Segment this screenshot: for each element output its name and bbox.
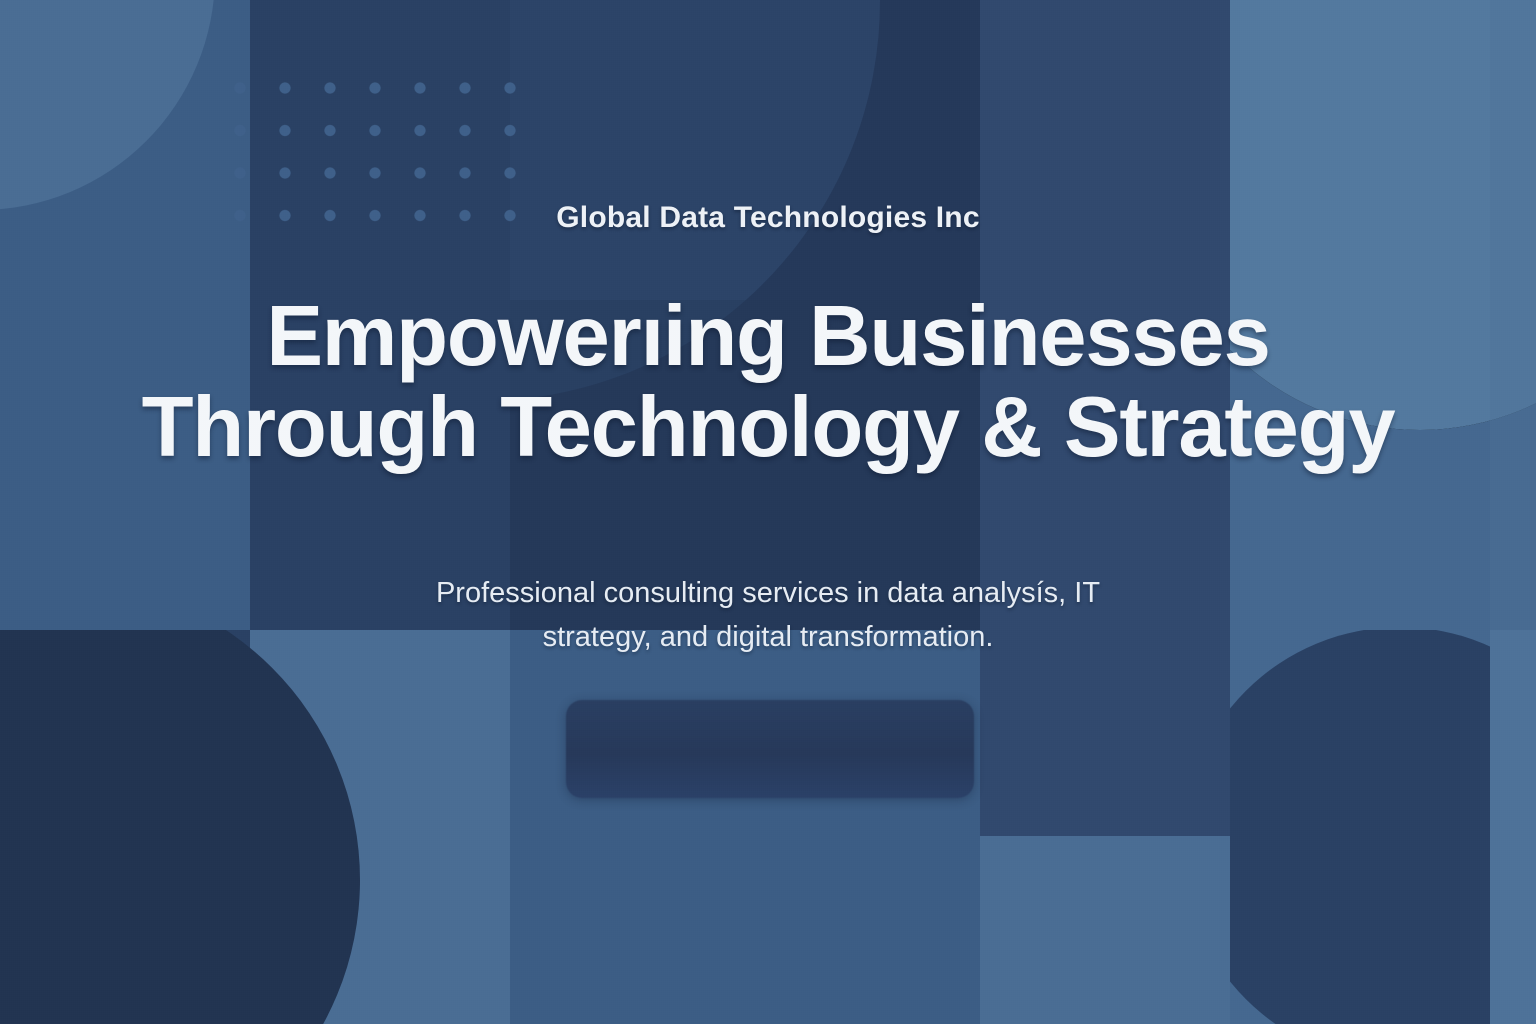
headline-line-1: Empowerıing Businesses [142,292,1395,383]
hero-content: Global Data Technologies Inc Empowerıing… [0,0,1536,1024]
subtitle-line-2: strategy, and digital transformation. [436,615,1100,659]
page-title: Empowerıing Businesses Through Technolog… [142,292,1395,474]
company-name: Global Data Technologies Inc [556,200,979,236]
hero-subtitle: Professional consulting services in data… [436,571,1100,659]
cta-button[interactable] [566,700,974,798]
hero-banner: Global Data Technologies Inc Empowerıing… [0,0,1536,1024]
subtitle-line-1: Professional consulting services in data… [436,571,1100,615]
headline-line-2: Through Technology & Strategy [142,383,1395,474]
